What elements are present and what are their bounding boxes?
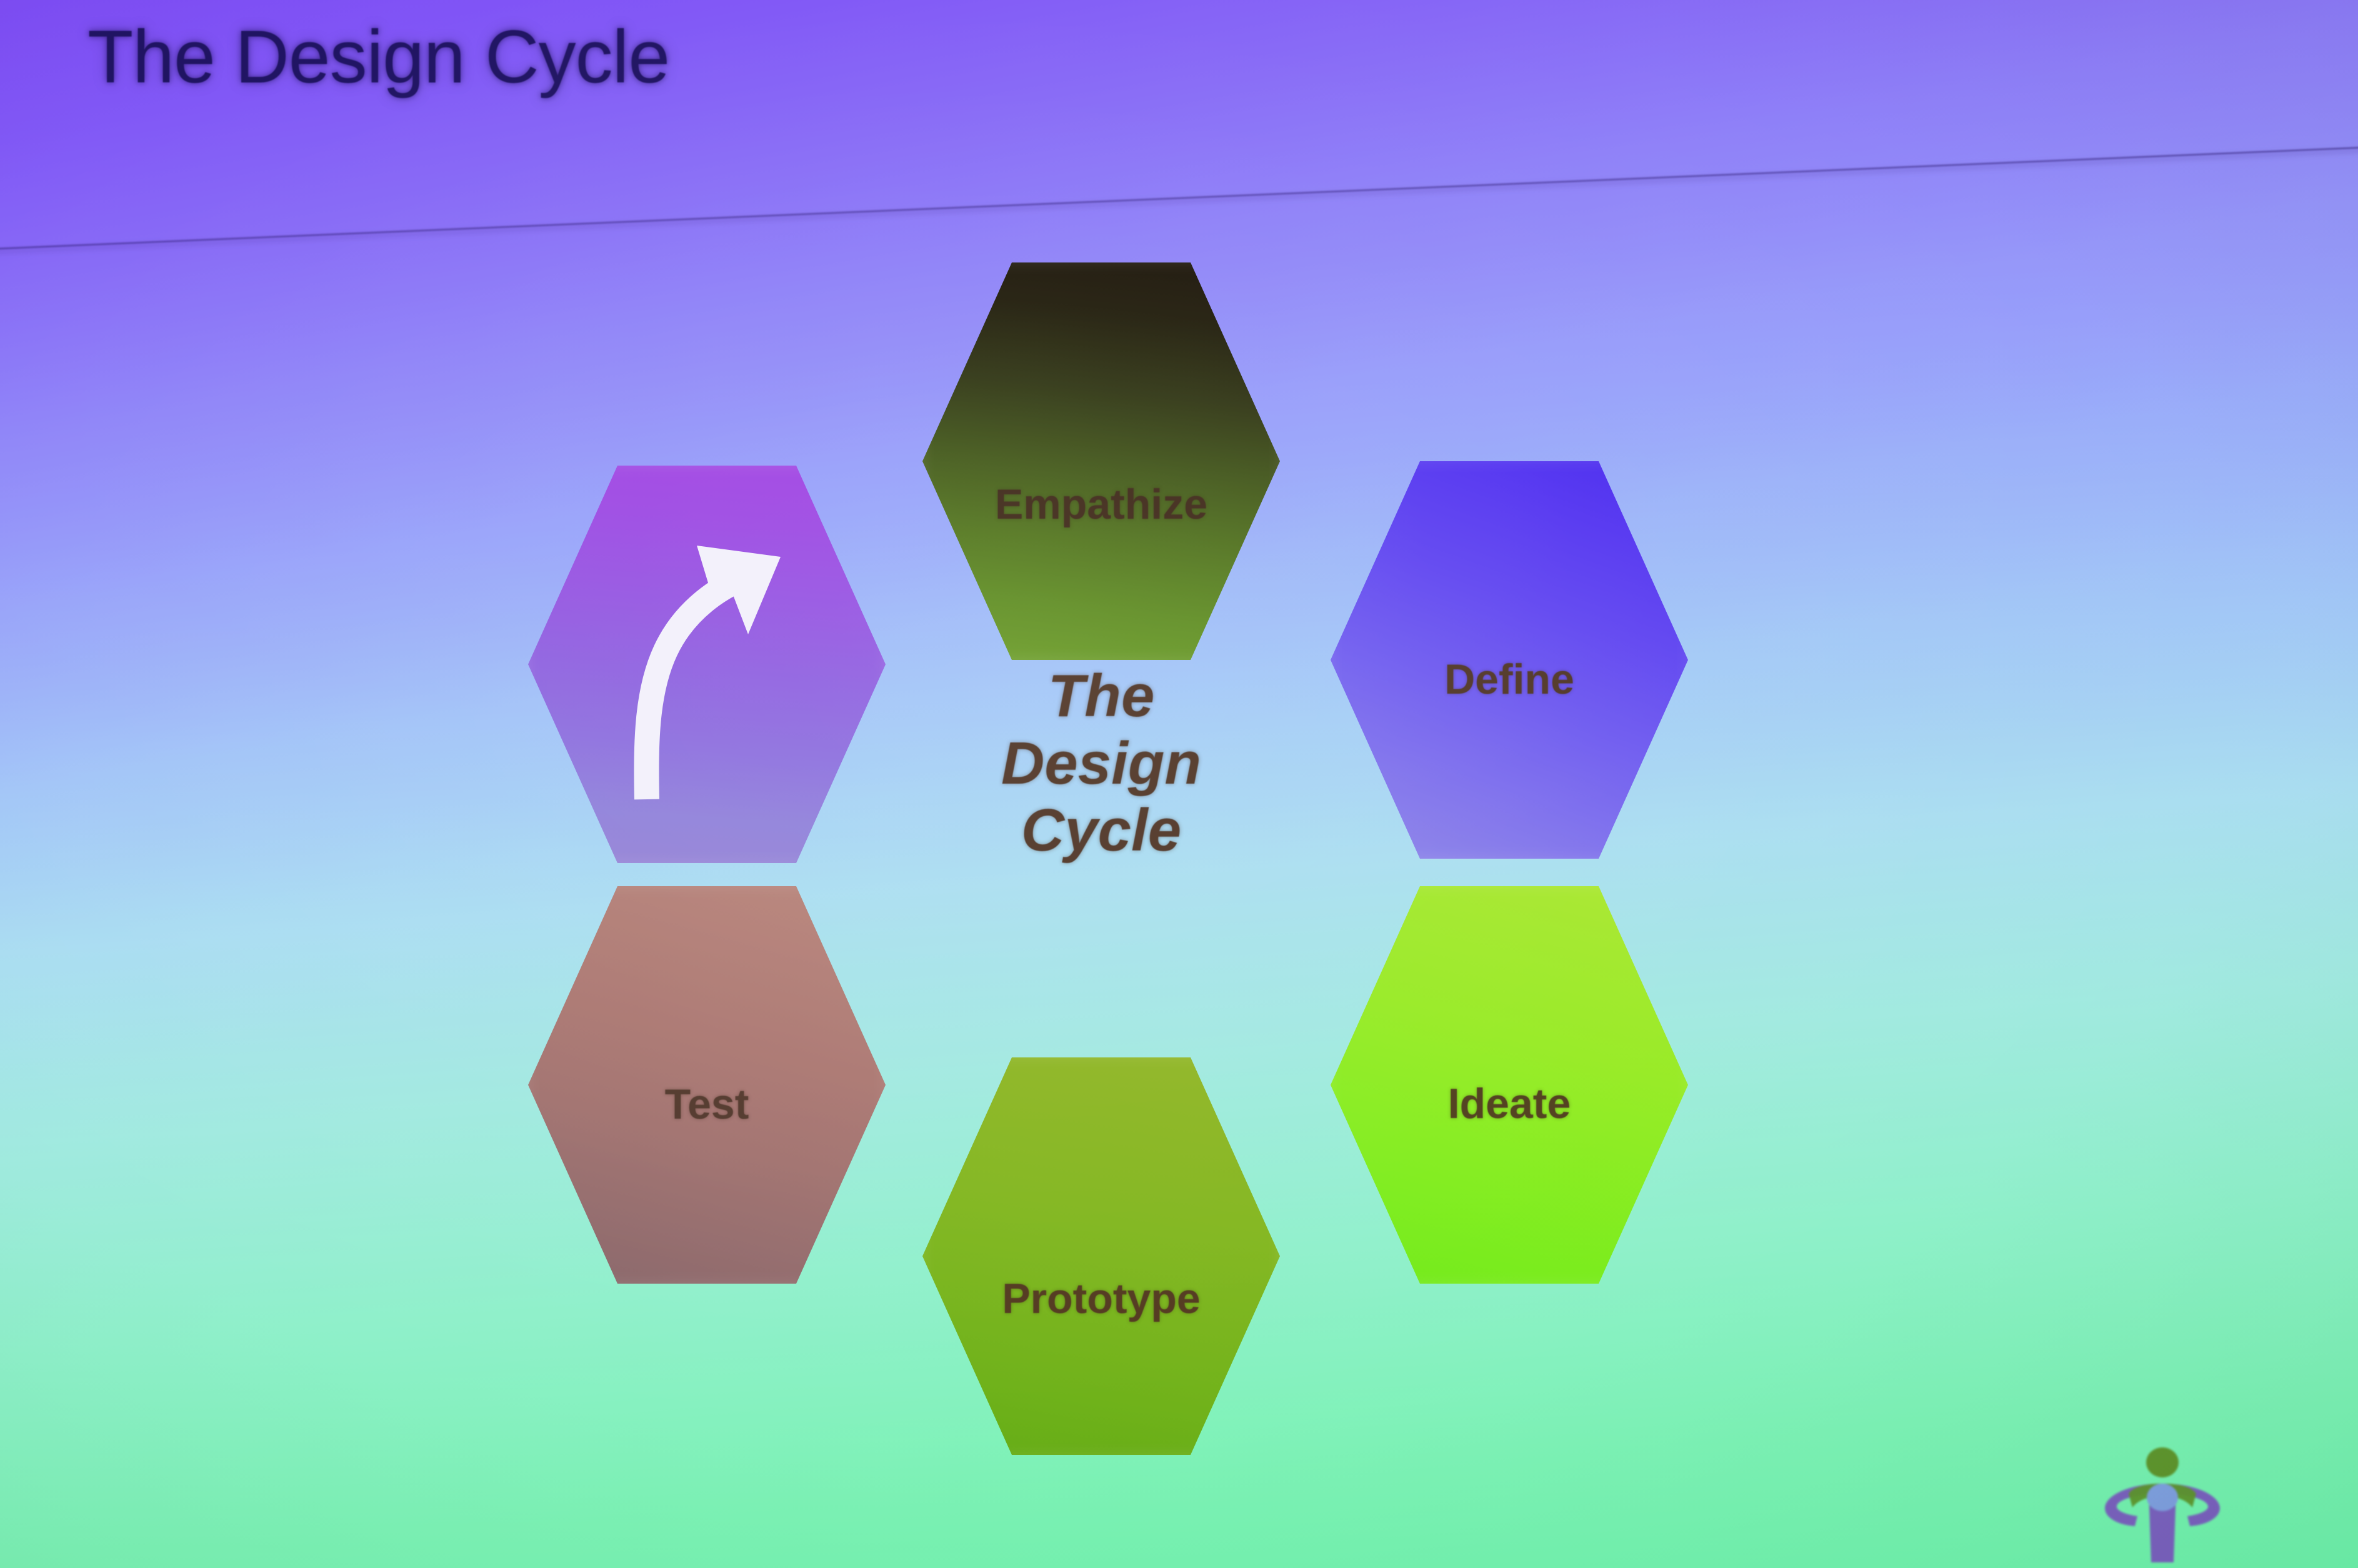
hexagon-prototype[interactable]: Prototype bbox=[922, 1057, 1280, 1455]
screen-seam-line bbox=[0, 146, 2358, 251]
hexagon-test-label: Test bbox=[665, 1080, 749, 1129]
screen-seam-glow bbox=[0, 147, 2358, 255]
hexagon-prototype-label: Prototype bbox=[1002, 1274, 1200, 1323]
center-label-line-1: The bbox=[926, 662, 1276, 730]
curved-arrow-up-right-icon bbox=[608, 534, 814, 803]
hexagon-ideate[interactable]: Ideate bbox=[1331, 886, 1688, 1284]
center-label-line-2: Design bbox=[926, 730, 1276, 797]
hexagon-empathize-label: Empathize bbox=[995, 480, 1207, 529]
person-arms-raised-logo bbox=[2100, 1437, 2225, 1568]
slide-title: The Design Cycle bbox=[87, 14, 669, 100]
hexagon-ideate-label: Ideate bbox=[1448, 1079, 1571, 1128]
presentation-slide: The Design Cycle Empathize Define Ideate… bbox=[0, 0, 2358, 1568]
hexagon-cycle-arrow[interactable] bbox=[528, 466, 886, 863]
center-label-line-3: Cycle bbox=[926, 797, 1276, 864]
hexagon-test[interactable]: Test bbox=[528, 886, 886, 1284]
hexagon-define-label: Define bbox=[1444, 655, 1574, 704]
hexagon-empathize[interactable]: Empathize bbox=[922, 262, 1280, 660]
hexagon-define[interactable]: Define bbox=[1331, 461, 1688, 859]
diagram-center-label: The Design Cycle bbox=[926, 662, 1276, 864]
